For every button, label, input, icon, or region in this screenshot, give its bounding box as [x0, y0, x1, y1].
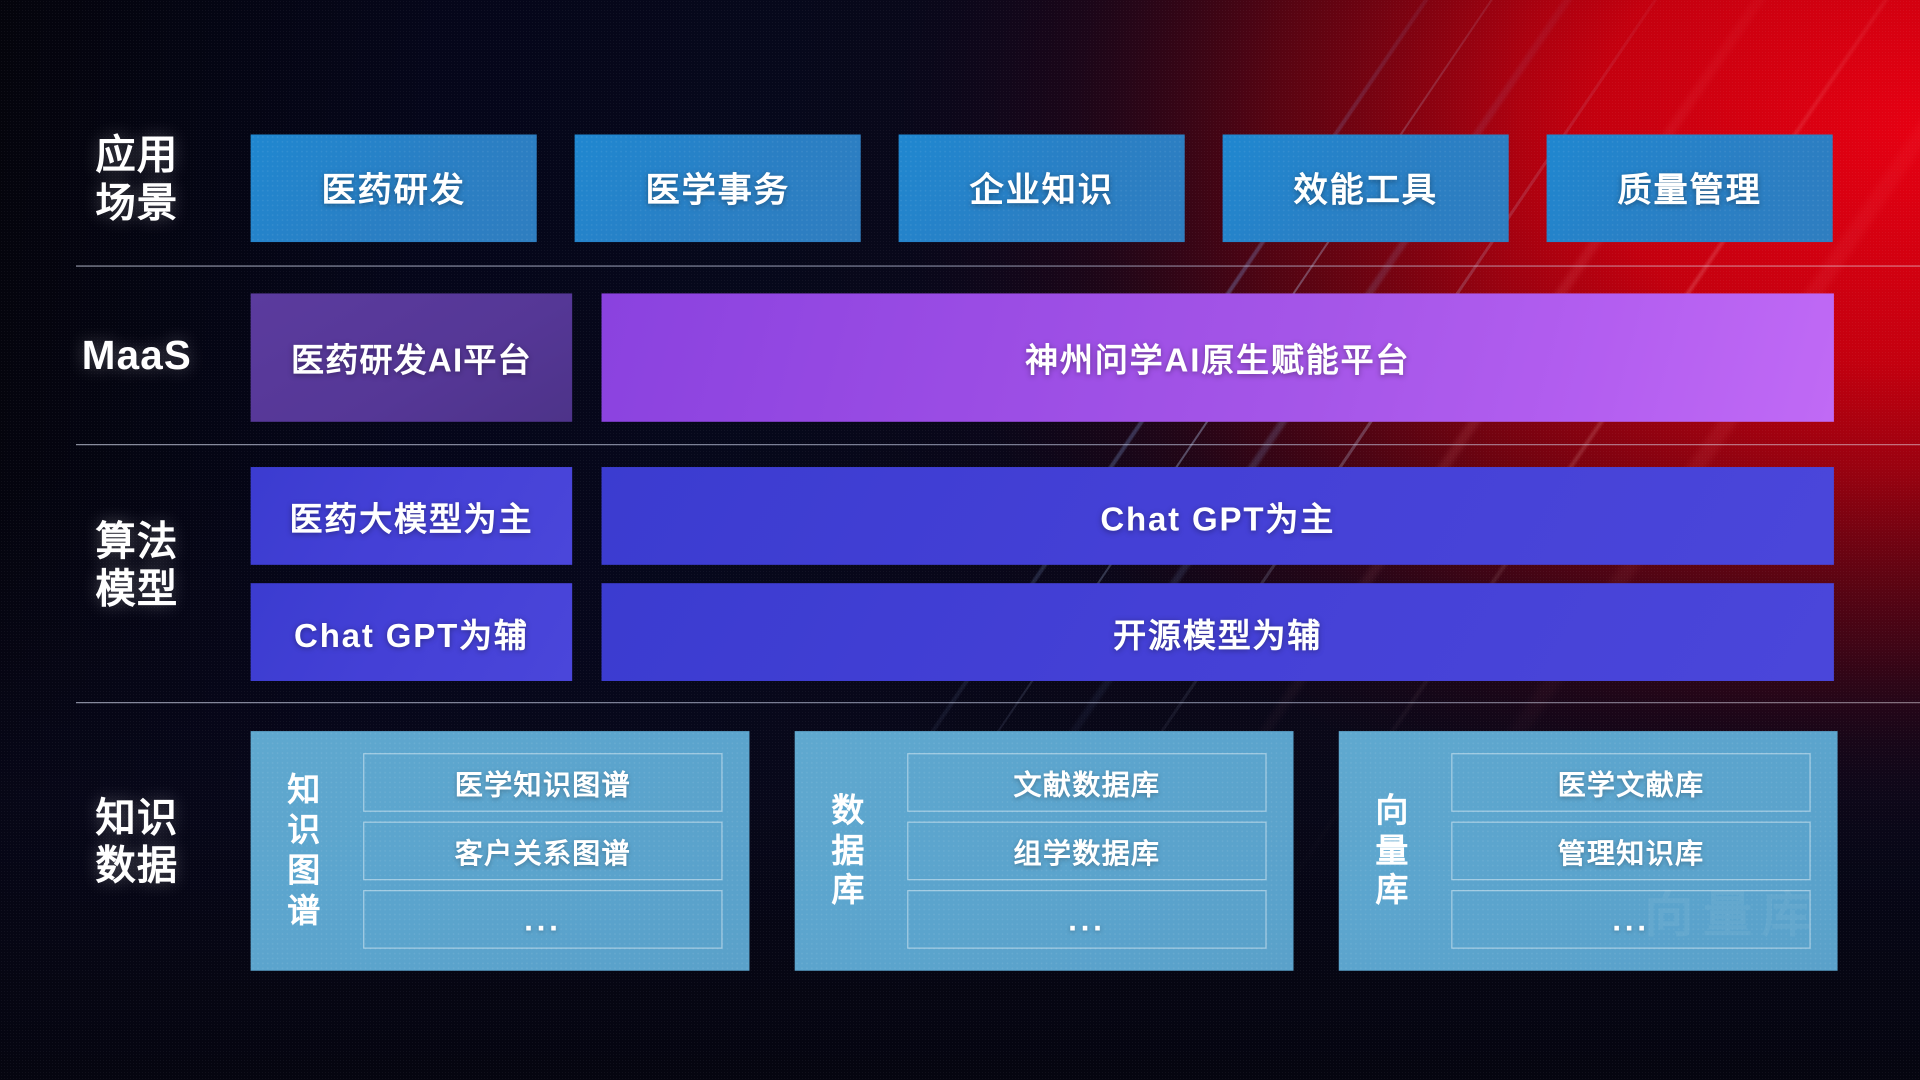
row-label-line-2: 场景: [39, 180, 235, 228]
algo-box-label: 医药大模型为主: [289, 492, 533, 540]
knowledge-panel-title-line-3: 库: [1375, 871, 1409, 911]
app-box-quality-management[interactable]: 质量管理: [1547, 134, 1833, 242]
row-label-line-2: 数据: [39, 842, 235, 890]
knowledge-panel-title: 知 识 图 谱: [251, 731, 359, 971]
knowledge-panel-items: 文献数据库 组学数据库 ...: [902, 731, 1293, 971]
knowledge-item[interactable]: 组学数据库: [907, 822, 1266, 881]
row-label-line-1: 算法: [39, 518, 235, 566]
knowledge-panel-title-line-3: 库: [831, 871, 865, 911]
knowledge-panel-title-line-4: 谱: [287, 891, 321, 931]
knowledge-panel-database[interactable]: 数 据 库 文献数据库 组学数据库 ...: [795, 731, 1294, 971]
algo-box-label: Chat GPT为主: [1100, 492, 1335, 540]
knowledge-panel-title-line-1: 知: [287, 770, 321, 810]
knowledge-panel-items: 医学文献库 管理知识库 ...: [1446, 731, 1837, 971]
app-box-enterprise-knowledge[interactable]: 企业知识: [899, 134, 1185, 242]
knowledge-item-more[interactable]: ...: [907, 890, 1266, 949]
divider-algorithm-knowledge: [76, 702, 1920, 703]
knowledge-panel-title: 数 据 库: [795, 731, 903, 971]
app-box-label: 企业知识: [970, 164, 1114, 213]
maas-box-label: 神州问学AI原生赋能平台: [1025, 334, 1410, 382]
app-box-label: 质量管理: [1617, 164, 1761, 213]
row-label-line-1: 知识: [39, 795, 235, 843]
knowledge-item[interactable]: 医学知识图谱: [363, 753, 722, 812]
row-label-algorithm: 算法 模型: [39, 518, 235, 613]
knowledge-item[interactable]: 医学文献库: [1451, 753, 1810, 812]
algo-box-chatgpt-primary[interactable]: Chat GPT为主: [602, 467, 1834, 565]
knowledge-panel-title-line-1: 数: [831, 791, 865, 831]
app-box-label: 医学事务: [646, 164, 790, 213]
row-label-knowledge: 知识 数据: [39, 795, 235, 890]
knowledge-panel-title-line-3: 图: [287, 851, 321, 891]
app-box-medical-affairs[interactable]: 医学事务: [575, 134, 861, 242]
algo-box-medicine-llm-primary[interactable]: 医药大模型为主: [251, 467, 573, 565]
knowledge-panel-title-line-2: 据: [831, 831, 865, 871]
maas-box-label: 医药研发AI平台: [291, 334, 532, 382]
knowledge-item[interactable]: 文献数据库: [907, 753, 1266, 812]
knowledge-item-more[interactable]: ...: [363, 890, 722, 949]
knowledge-panel-title: 向 量 库: [1339, 731, 1447, 971]
knowledge-item[interactable]: 客户关系图谱: [363, 822, 722, 881]
knowledge-panel-title-line-2: 量: [1375, 831, 1409, 871]
knowledge-panel-graph[interactable]: 知 识 图 谱 医学知识图谱 客户关系图谱 ...: [251, 731, 750, 971]
algo-box-opensource-secondary[interactable]: 开源模型为辅: [602, 583, 1834, 681]
row-label-line-1: 应用: [39, 132, 235, 180]
slide-canvas: 应用 场景 医药研发 医学事务 企业知识 效能工具 质量管理 MaaS 医药研发…: [0, 0, 1920, 1080]
app-box-medicine-rd[interactable]: 医药研发: [251, 134, 537, 242]
app-box-label: 医药研发: [322, 164, 466, 213]
row-label-line-1: MaaS: [39, 333, 235, 381]
algo-box-label: 开源模型为辅: [1113, 608, 1322, 656]
divider-maas-algorithm: [76, 444, 1920, 445]
knowledge-panel-title-line-1: 向: [1375, 791, 1409, 831]
app-box-label: 效能工具: [1293, 164, 1437, 213]
row-label-maas: MaaS: [39, 333, 235, 381]
maas-box-shenzhou-wenxue-platform[interactable]: 神州问学AI原生赋能平台: [602, 293, 1834, 421]
maas-box-medicine-ai-platform[interactable]: 医药研发AI平台: [251, 293, 573, 421]
algo-box-label: Chat GPT为辅: [294, 608, 529, 656]
knowledge-item-more[interactable]: ...: [1451, 890, 1810, 949]
row-label-line-2: 模型: [39, 566, 235, 614]
row-label-applications: 应用 场景: [39, 132, 235, 227]
knowledge-panel-items: 医学知识图谱 客户关系图谱 ...: [358, 731, 749, 971]
knowledge-panel-title-line-2: 识: [287, 811, 321, 851]
divider-applications-maas: [76, 265, 1920, 266]
app-box-efficiency-tools[interactable]: 效能工具: [1223, 134, 1509, 242]
algo-box-chatgpt-secondary[interactable]: Chat GPT为辅: [251, 583, 573, 681]
knowledge-panel-vector-store[interactable]: 向量库 向 量 库 医学文献库 管理知识库 ...: [1339, 731, 1838, 971]
knowledge-item[interactable]: 管理知识库: [1451, 822, 1810, 881]
